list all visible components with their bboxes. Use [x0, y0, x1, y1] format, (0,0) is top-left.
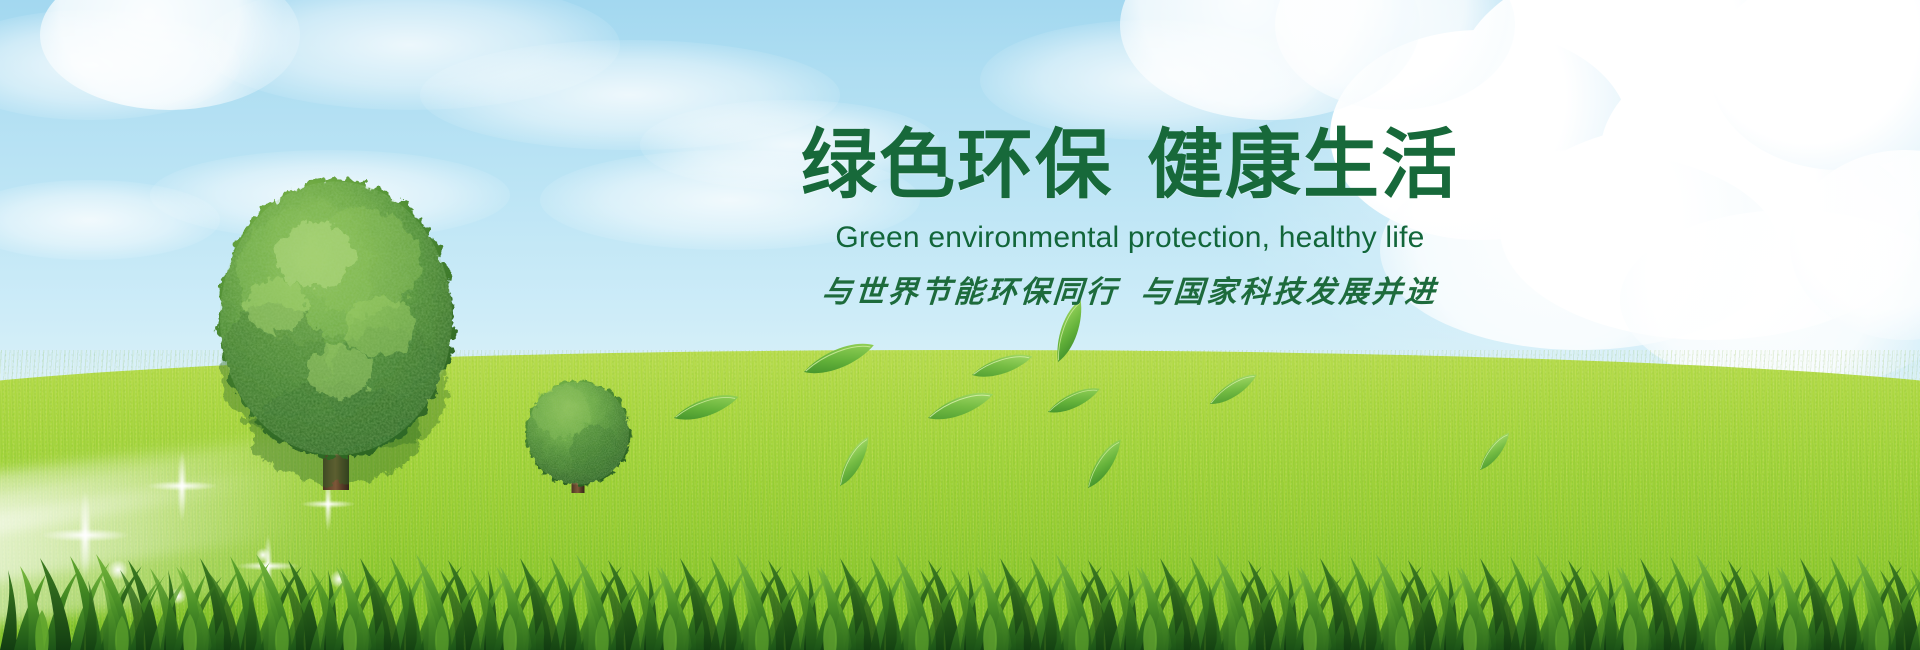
large-tree: [212, 175, 460, 490]
subtitle-english: Green environmental protection, healthy …: [770, 221, 1490, 255]
tree-canopy: [212, 175, 460, 490]
headline-part-left: 绿色环保: [801, 120, 1113, 209]
small-tree: [522, 378, 634, 493]
page-title: 绿色环保健康生活: [770, 126, 1490, 204]
eco-banner: 绿色环保健康生活 Green environmental protection,…: [0, 0, 1920, 650]
tagline-part-left: 与世界节能环保同行: [821, 275, 1120, 310]
tagline-part-right: 与国家科技发展并进: [1140, 275, 1439, 310]
headline-part-right: 健康生活: [1147, 120, 1459, 209]
tagline: 与世界节能环保同行与国家科技发展并进: [768, 267, 1491, 311]
grass-blades: [0, 540, 1920, 650]
grass-blade-border: [0, 540, 1920, 650]
tree-canopy: [522, 378, 634, 493]
banner-copy: 绿色环保健康生活 Green environmental protection,…: [770, 126, 1490, 311]
